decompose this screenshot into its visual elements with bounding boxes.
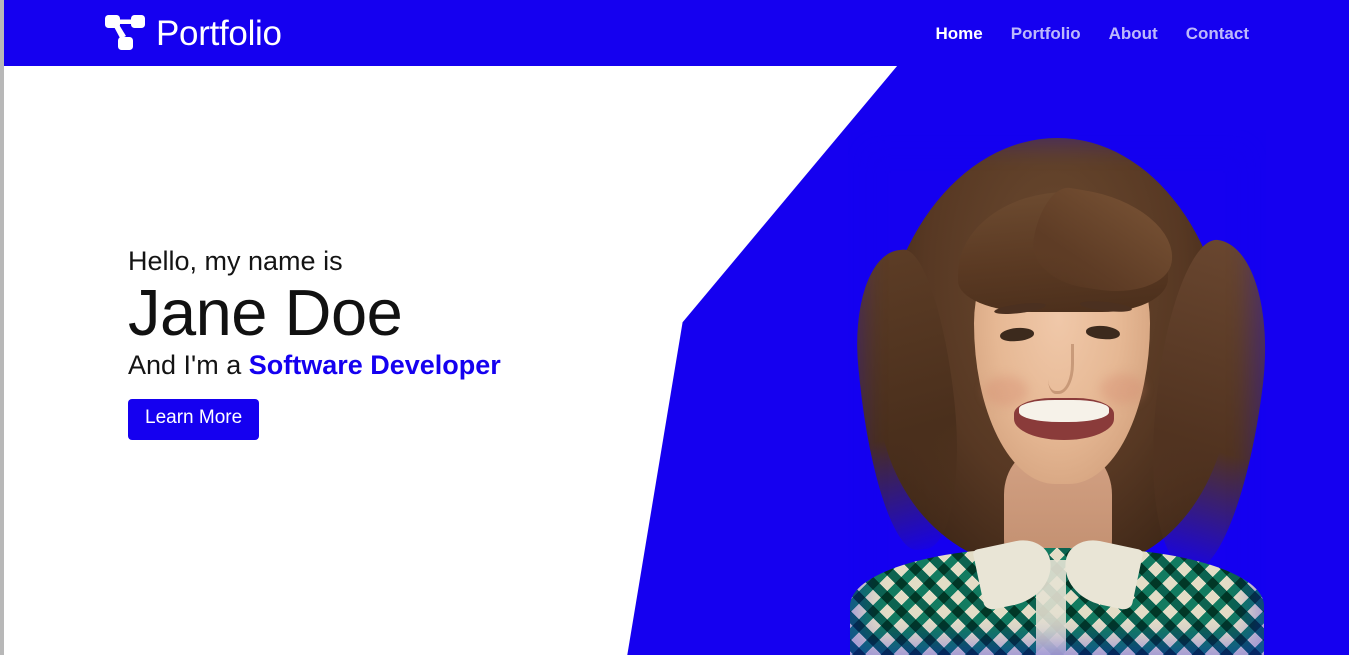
brand-name: Portfolio xyxy=(156,16,282,51)
hero-section: Hello, my name is Jane Doe And I'm a Sof… xyxy=(0,66,1349,655)
nav-link-portfolio[interactable]: Portfolio xyxy=(1011,25,1081,42)
brand-logo[interactable]: Portfolio xyxy=(103,8,282,58)
hero-text-block: Hello, my name is Jane Doe And I'm a Sof… xyxy=(128,246,648,440)
portrait-mouth xyxy=(1014,398,1114,440)
hero-role-accent: Software Developer xyxy=(249,350,501,380)
portrait-teeth xyxy=(1019,400,1109,422)
hero-portrait-photo xyxy=(848,130,1266,655)
page-scrollbar-gutter[interactable] xyxy=(0,0,4,655)
main-navigation: Home Portfolio About Contact xyxy=(936,0,1250,66)
hero-name: Jane Doe xyxy=(128,280,648,345)
hero-role-line: And I'm a Software Developer xyxy=(128,349,648,381)
portrait-cheek-right xyxy=(1100,374,1144,404)
hero-role-prefix: And I'm a xyxy=(128,350,249,380)
learn-more-button[interactable]: Learn More xyxy=(128,399,259,440)
nav-link-about[interactable]: About xyxy=(1109,25,1158,42)
portrait-stage xyxy=(848,130,1266,655)
site-header: Portfolio Home Portfolio About Contact xyxy=(0,0,1349,66)
hero-greeting: Hello, my name is xyxy=(128,246,648,278)
portfolio-landing-page: Portfolio Home Portfolio About Contact xyxy=(0,0,1349,655)
nav-link-home[interactable]: Home xyxy=(936,25,983,42)
sitemap-icon xyxy=(103,13,147,53)
nav-link-contact[interactable]: Contact xyxy=(1186,25,1249,42)
portrait-cheek-left xyxy=(984,376,1028,406)
